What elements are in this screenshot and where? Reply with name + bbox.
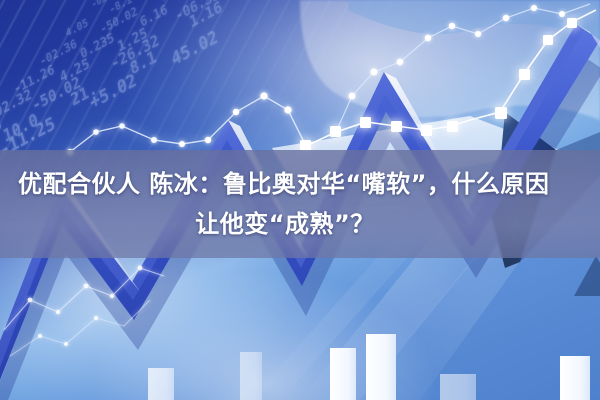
glow-line-nodes: [300, 18, 577, 151]
cover-image: -02.36 -11.25 +5.02 45.024.36 10.0 21. 8…: [0, 0, 600, 400]
lower-left-network: [4, 266, 164, 356]
headline-line-2: 让他变“成熟”？: [8, 204, 592, 244]
headline-band: 优配合伙人 陈冰：鲁比奥对华“嘴软”，什么原因 让他变“成熟”？: [0, 150, 600, 258]
headline-line-1: 优配合伙人 陈冰：鲁比奥对华“嘴软”，什么原因: [8, 164, 592, 204]
